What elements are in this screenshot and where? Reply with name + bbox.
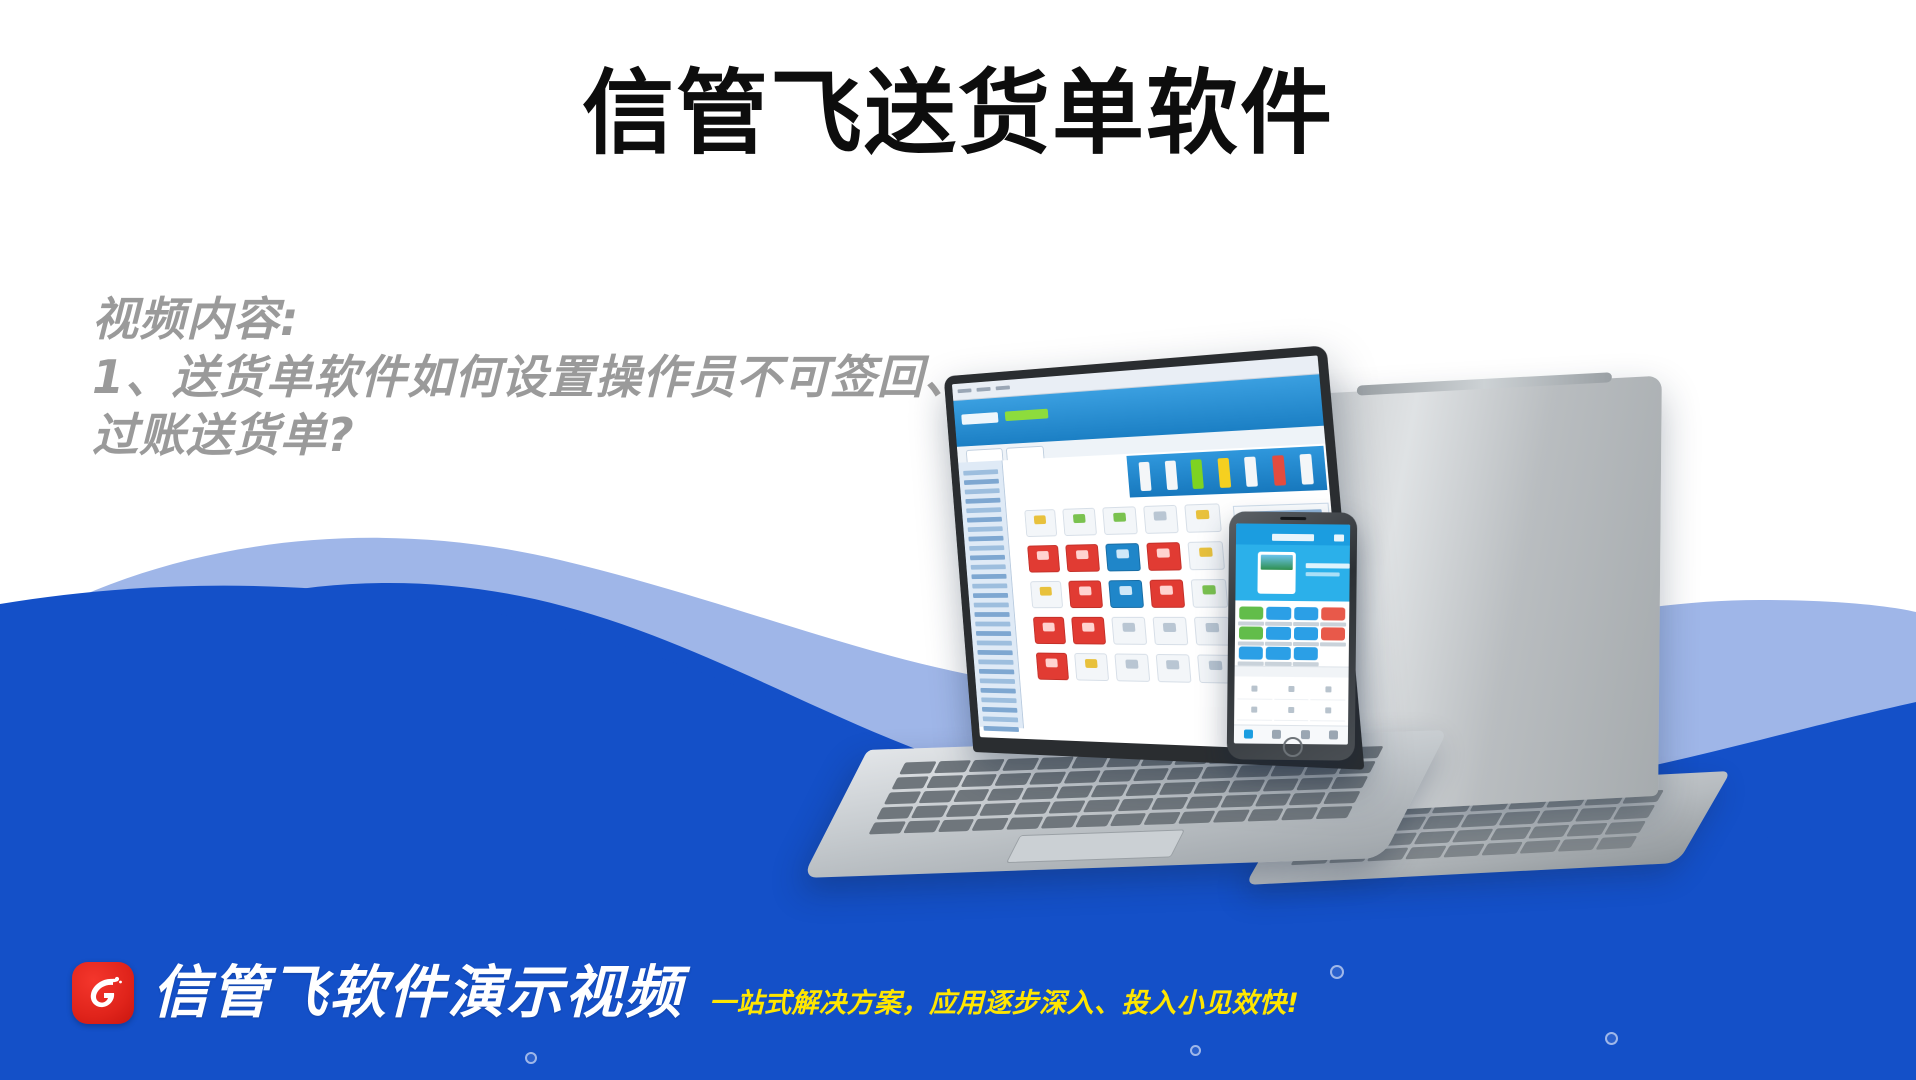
page-title: 信管飞送货单软件 (0, 62, 1916, 165)
laptop-trackpad (1006, 829, 1185, 863)
phone-app-header (1236, 529, 1350, 545)
video-content-label: 视频内容: (92, 290, 1092, 348)
smartphone-mockup (1227, 511, 1358, 760)
phone-hero-banner (1235, 544, 1350, 601)
phone-stats-grid (1234, 676, 1348, 725)
software-toolbar (1127, 446, 1327, 498)
phone-home-button[interactable] (1283, 737, 1303, 757)
phone-hero-subtext (1306, 572, 1340, 576)
xinguanfei-logo-icon (72, 962, 134, 1024)
phone-earpiece (1280, 517, 1306, 520)
software-module-icons (1024, 504, 1235, 684)
video-content-item-line1: 1、送货单软件如何设置操作员不可签回、 (92, 348, 1092, 406)
phone-module-grid (1235, 600, 1350, 666)
hamburger-menu-icon[interactable] (1334, 534, 1344, 541)
phone-screen-app-ui (1234, 523, 1350, 744)
tab-home-icon[interactable] (1234, 725, 1263, 743)
phone-app-title (1272, 534, 1314, 541)
brand-tagline: 一站式解决方案，应用逐步深入、投入小见效快! (709, 989, 1299, 1019)
presentation-slide: 信管飞送货单软件 视频内容: 1、送货单软件如何设置操作员不可签回、 过账送货单… (0, 0, 1916, 1080)
phone-hero-text (1306, 563, 1350, 568)
brand-name: 信管飞软件演示视频 (152, 963, 683, 1023)
phone-hero-card (1257, 552, 1295, 594)
tab-profile-icon[interactable] (1319, 726, 1348, 744)
footer-brand-bar: 信管飞软件演示视频 一站式解决方案，应用逐步深入、投入小见效快! (0, 905, 1916, 1080)
video-content-item-line2: 过账送货单? (92, 406, 1092, 464)
video-content-block: 视频内容: 1、送货单软件如何设置操作员不可签回、 过账送货单? (92, 290, 1092, 464)
